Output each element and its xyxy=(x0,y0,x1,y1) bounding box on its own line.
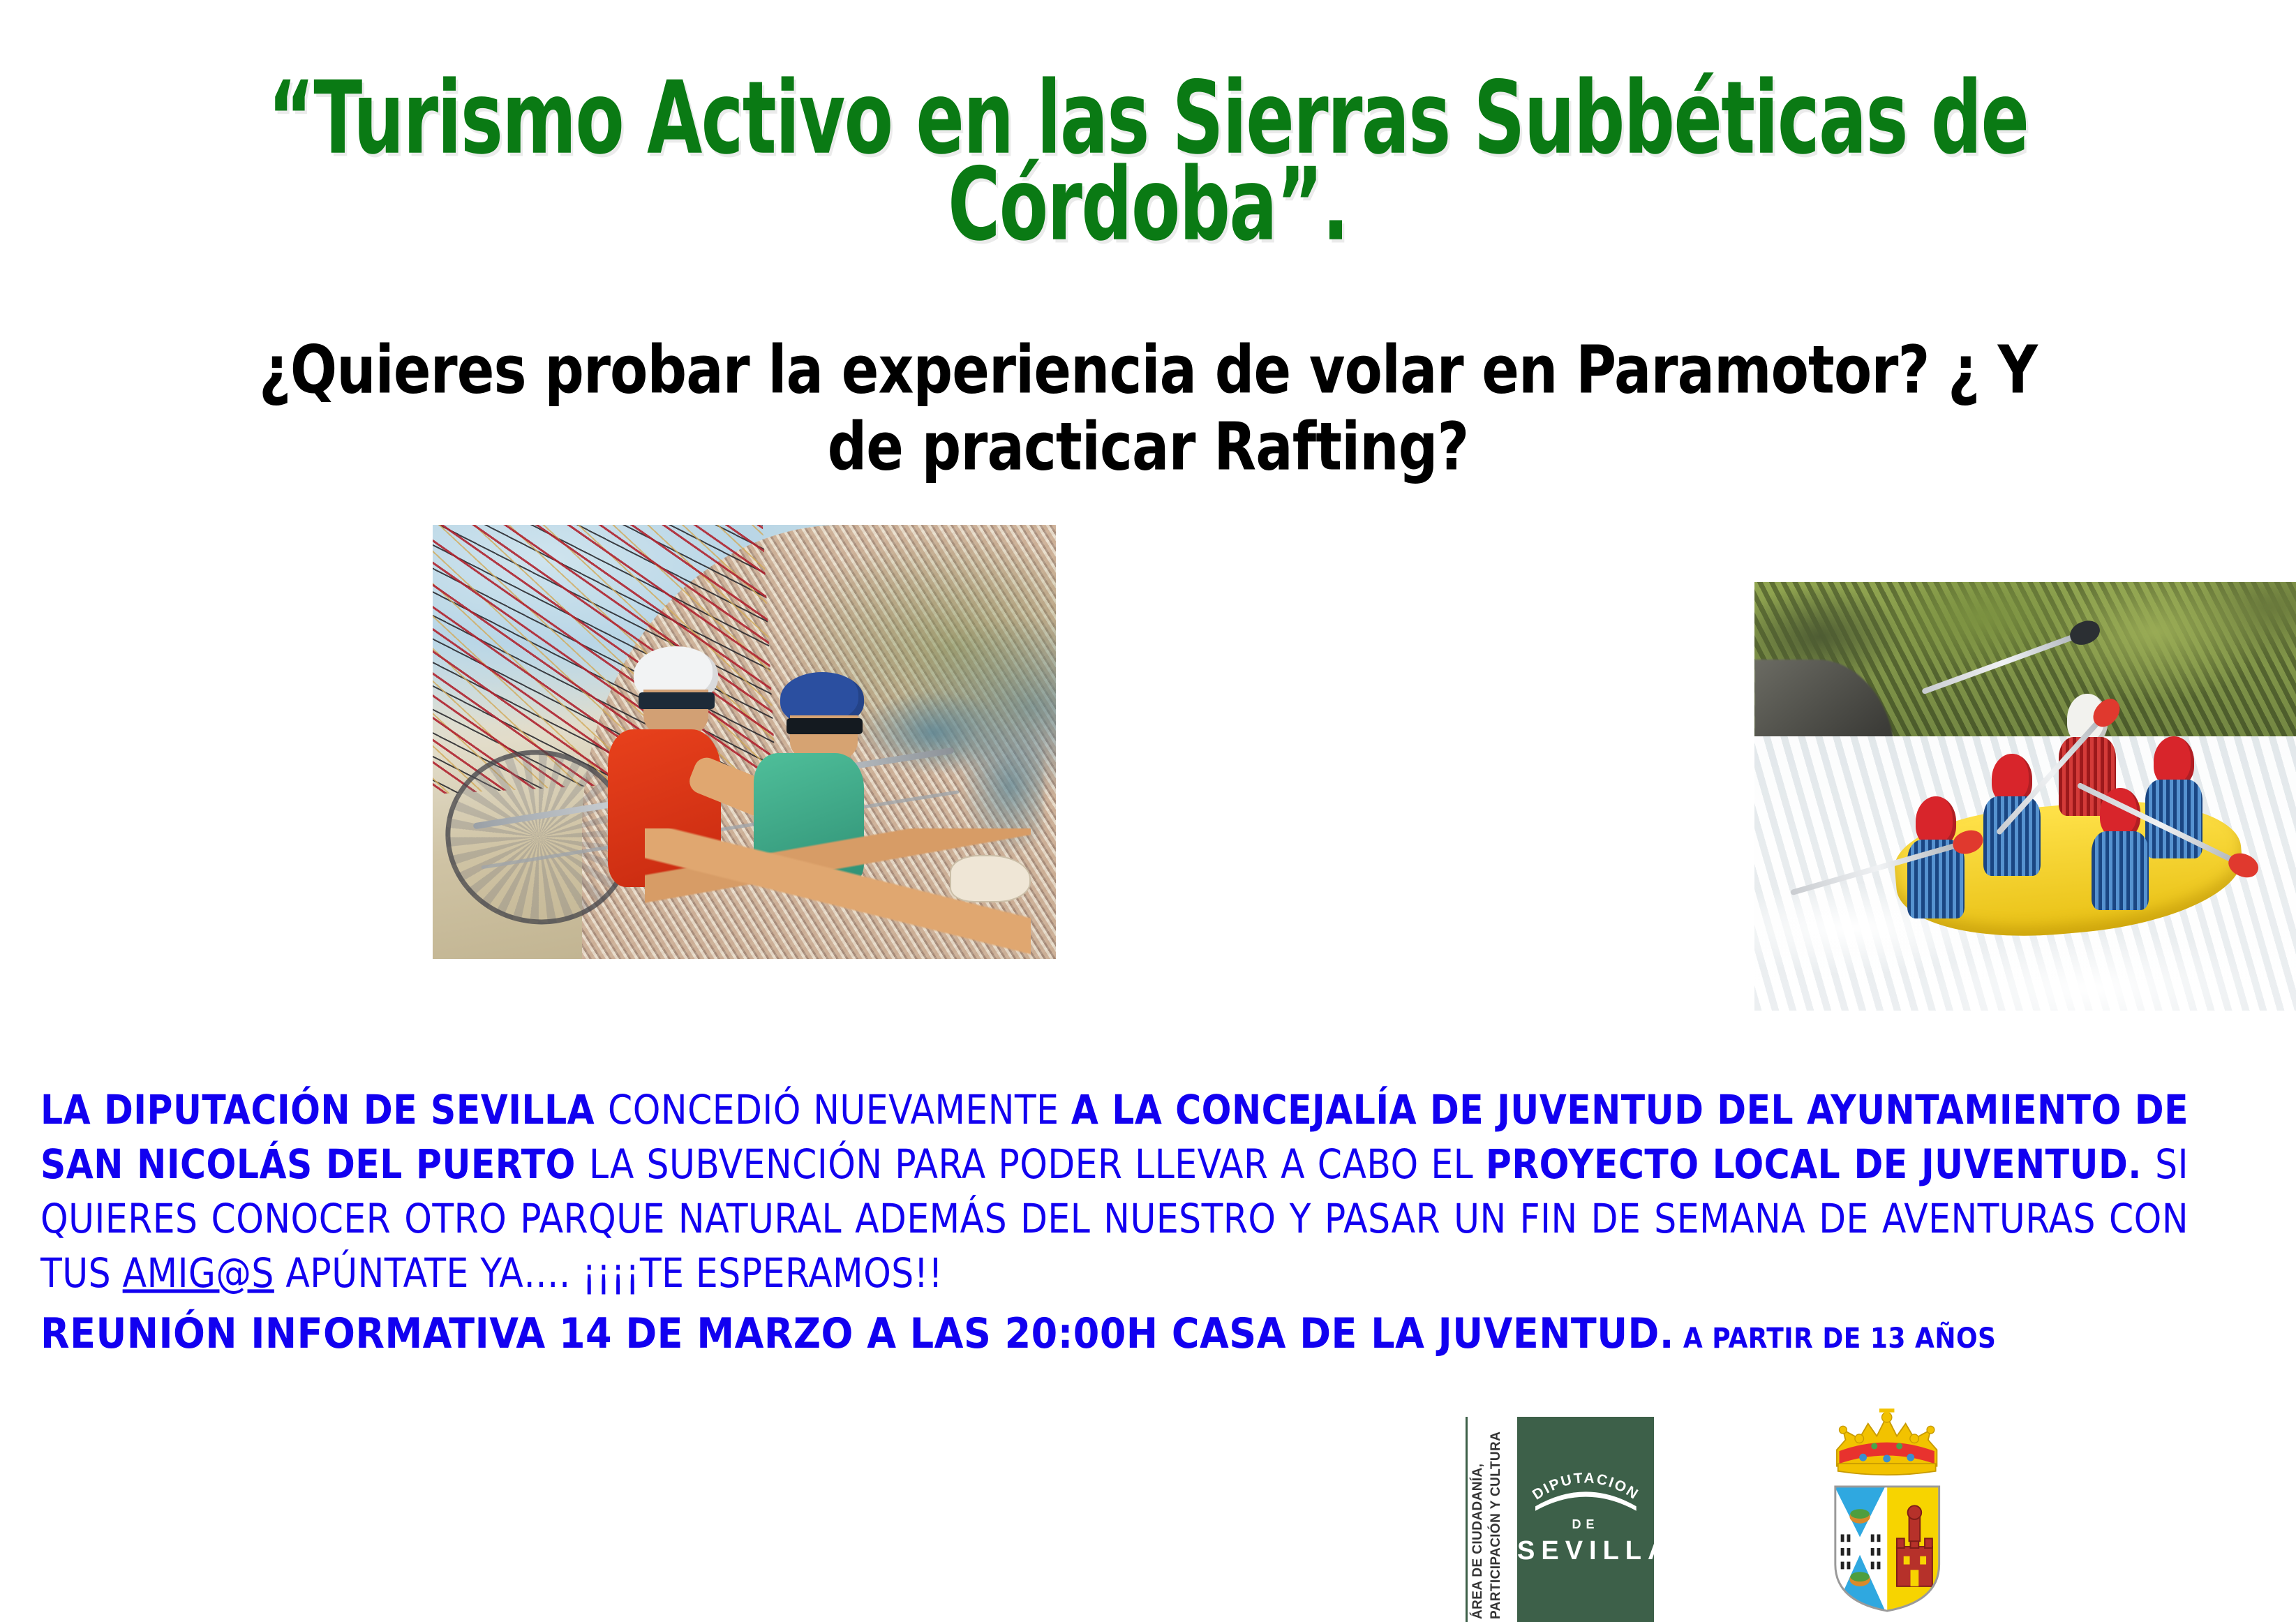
subtitle-line-1: ¿Quieres probar la experiencia de volar … xyxy=(169,328,2127,412)
announcement-segment-7: APÚNTATE YA…. ¡¡¡¡TE ESPERAMOS!! xyxy=(274,1250,943,1297)
sneaker-icon xyxy=(950,855,1031,902)
announcement-segment-1: CONCEDIÓ NUEVAMENTE xyxy=(608,1087,1071,1134)
announcement-segment-0: LA DIPUTACIÓN DE SEVILLA xyxy=(40,1087,608,1134)
announcement-paragraph: LA DIPUTACIÓN DE SEVILLA CONCEDIÓ NUEVAM… xyxy=(40,1083,2189,1301)
page-title: “Turismo Activo en las Sierras Subbética… xyxy=(42,67,2254,241)
area-vertical-line-1: ÁREA DE CIUDADANÍA, xyxy=(1470,1464,1486,1619)
life-vest xyxy=(2092,831,2149,910)
rafting-photo xyxy=(1754,582,2296,1011)
announcement-segment-4: PROYECTO LOCAL DE JUVENTUD. xyxy=(1486,1141,2155,1189)
meeting-info-line: REUNIÓN INFORMATIVA 14 DE MARZO A LAS 20… xyxy=(40,1309,2189,1358)
subtitle-line-2: de practicar Rafting? xyxy=(169,405,2127,489)
meeting-age-text: A PARTIR DE 13 AÑOS xyxy=(1674,1323,1997,1355)
svg-text:DIPUTACION: DIPUTACION xyxy=(1530,1470,1642,1503)
sunglasses-icon xyxy=(639,692,715,710)
announcement-segment-3: LA SUBVENCIÓN PARA PODER LLEVAR A CABO E… xyxy=(589,1141,1486,1189)
title-line-2: Córdoba”. xyxy=(219,154,2078,256)
coat-of-arms-logo xyxy=(1805,1404,1969,1614)
sunglasses-icon xyxy=(787,718,863,734)
shield-icon xyxy=(1831,1484,1943,1614)
paramotor-photo xyxy=(433,525,1056,959)
life-vest xyxy=(1983,796,2041,875)
diputacion-green-box: DIPUTACION DE SEVILLA xyxy=(1517,1417,1654,1622)
diputacion-arc-text: DIPUTACION xyxy=(1530,1458,1642,1515)
page-subtitle: ¿Quieres probar la experiencia de volar … xyxy=(84,328,2212,482)
area-vertical-text: ÁREA DE CIUDADANÍA, PARTICIPACIÓN Y CULT… xyxy=(1466,1417,1517,1622)
diputacion-de-text: DE xyxy=(1517,1517,1654,1532)
area-vertical-line-2: PARTICIPACIÓN Y CULTURA xyxy=(1489,1431,1504,1619)
diputacion-sevilla-logo: ÁREA DE CIUDADANÍA, PARTICIPACIÓN Y CULT… xyxy=(1466,1417,1654,1622)
meeting-main-text: REUNIÓN INFORMATIVA 14 DE MARZO A LAS 20… xyxy=(40,1309,1674,1358)
royal-crown-icon xyxy=(1824,1404,1949,1488)
diputacion-sevilla-text: SEVILLA xyxy=(1517,1536,1654,1566)
announcement-segment-6: AMIG@S xyxy=(123,1250,274,1297)
